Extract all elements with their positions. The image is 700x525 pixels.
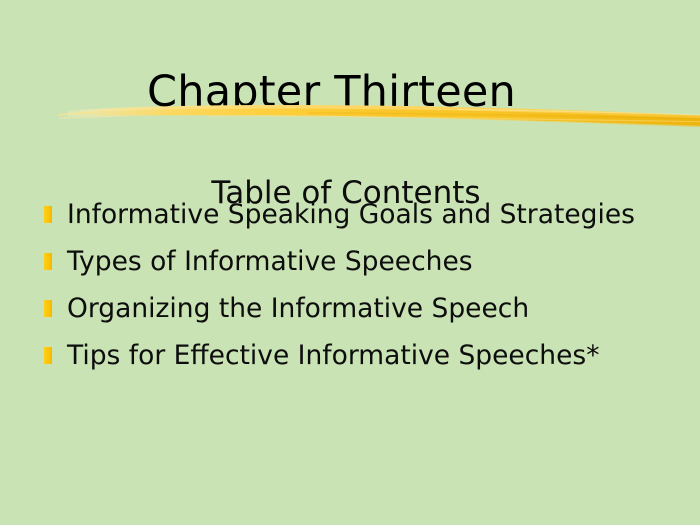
page-title: Chapter Thirteen bbox=[147, 70, 516, 115]
list-item[interactable]: Organizing the Informative Speech bbox=[40, 292, 660, 327]
list-item-label: Organizing the Informative Speech bbox=[67, 292, 660, 327]
gold-square-bullet-icon bbox=[44, 300, 52, 317]
slide-title-container: Chapter Thirteen bbox=[0, 41, 663, 144]
gold-square-bullet-icon bbox=[44, 253, 52, 270]
list-item-label: Tips for Effective Informative Speeches* bbox=[67, 339, 660, 374]
list-item[interactable]: Tips for Effective Informative Speeches* bbox=[40, 339, 660, 374]
list-item[interactable]: Informative Speaking Goals and Strategie… bbox=[40, 198, 660, 233]
list-item[interactable]: Types of Informative Speeches bbox=[40, 245, 660, 280]
gold-square-bullet-icon bbox=[44, 347, 52, 364]
list-item-label: Types of Informative Speeches bbox=[67, 245, 660, 280]
table-of-contents-list: Informative Speaking Goals and Strategie… bbox=[40, 198, 660, 374]
gold-square-bullet-icon bbox=[44, 206, 52, 223]
presentation-slide: Chapter Thirteen bbox=[0, 0, 700, 525]
list-item-label: Informative Speaking Goals and Strategie… bbox=[67, 198, 660, 233]
